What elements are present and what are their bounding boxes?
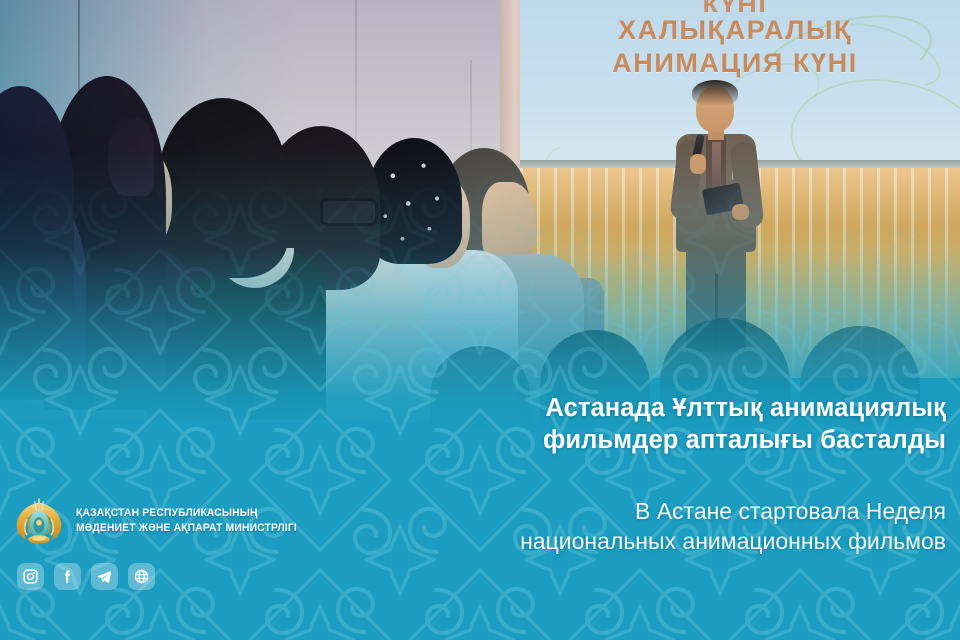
- kazakhstan-emblem-icon: [12, 494, 66, 548]
- instagram-icon[interactable]: [17, 563, 44, 590]
- subheadline-line-1: В Астане стартовала Неделя: [306, 497, 946, 527]
- headline-line-1: Астанада Ұлттық анимациялық: [306, 392, 946, 424]
- ministry-line-1: ҚАЗАҚСТАН РЕСПУБЛИКАСЫНЫҢ: [76, 506, 297, 521]
- ministry-line-2: МӘДЕНИЕТ ЖӘНЕ АҚПАРАТ МИНИСТРЛІГІ: [76, 521, 297, 536]
- facebook-icon[interactable]: [54, 563, 81, 590]
- subheadline-russian: В Астане стартовала Неделя национальных …: [306, 497, 946, 557]
- ministry-name: ҚАЗАҚСТАН РЕСПУБЛИКАСЫНЫҢ МӘДЕНИЕТ ЖӘНЕ …: [76, 506, 297, 537]
- headline-line-2: фильмдер апталығы басталды: [306, 424, 946, 456]
- social-media-news-banner: КҮНІ ХАЛЫҚАРАЛЫҚ АНИМАЦИЯ КҮНІ: [0, 0, 960, 640]
- headline-kazakh: Астанада Ұлттық анимациялық фильмдер апт…: [306, 392, 946, 456]
- subheadline-line-2: национальных анимационных фильмов: [306, 527, 946, 557]
- website-icon[interactable]: [128, 563, 155, 590]
- ministry-branding: ҚАЗАҚСТАН РЕСПУБЛИКАСЫНЫҢ МӘДЕНИЕТ ЖӘНЕ …: [12, 494, 316, 548]
- telegram-icon[interactable]: [91, 563, 118, 590]
- social-links[interactable]: [17, 563, 155, 590]
